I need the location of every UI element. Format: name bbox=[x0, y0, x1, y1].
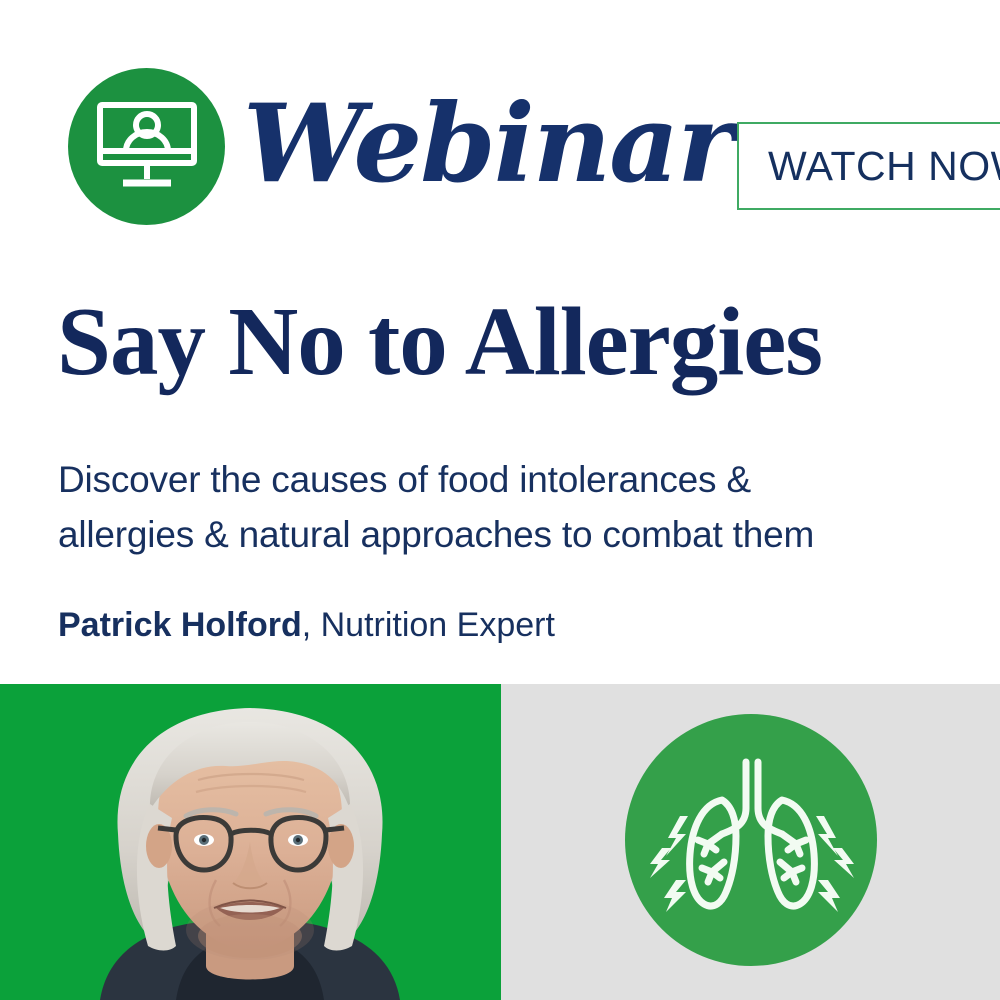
presenter-name: Patrick Holford bbox=[58, 606, 302, 644]
presenter-line: Patrick Holford, Nutrition Expert bbox=[58, 603, 958, 647]
presenter-role: , Nutrition Expert bbox=[302, 606, 555, 644]
webinar-script-title: Webinar bbox=[243, 74, 713, 214]
lungs-allergy-icon bbox=[625, 714, 877, 966]
webinar-monitor-person-icon bbox=[68, 68, 225, 225]
watch-now-label: WATCH NOW bbox=[739, 143, 1000, 190]
speaker-photo-panel bbox=[0, 684, 501, 1000]
subtitle-line-1: Discover the causes of food intolerances… bbox=[58, 452, 968, 507]
webinar-promo-poster: Webinar WATCH NOW Say No to Allergies Di… bbox=[0, 0, 1000, 1000]
header-row: Webinar WATCH NOW bbox=[0, 0, 1000, 250]
page-title: Say No to Allergies bbox=[57, 292, 997, 392]
speaker-portrait-photo bbox=[0, 684, 501, 1000]
subtitle-line-2: allergies & natural approaches to combat… bbox=[58, 507, 968, 562]
bottom-band bbox=[0, 684, 1000, 1000]
subtitle: Discover the causes of food intolerances… bbox=[58, 452, 968, 562]
icon-panel bbox=[501, 684, 1000, 1000]
watch-now-button[interactable]: WATCH NOW bbox=[737, 122, 1000, 210]
